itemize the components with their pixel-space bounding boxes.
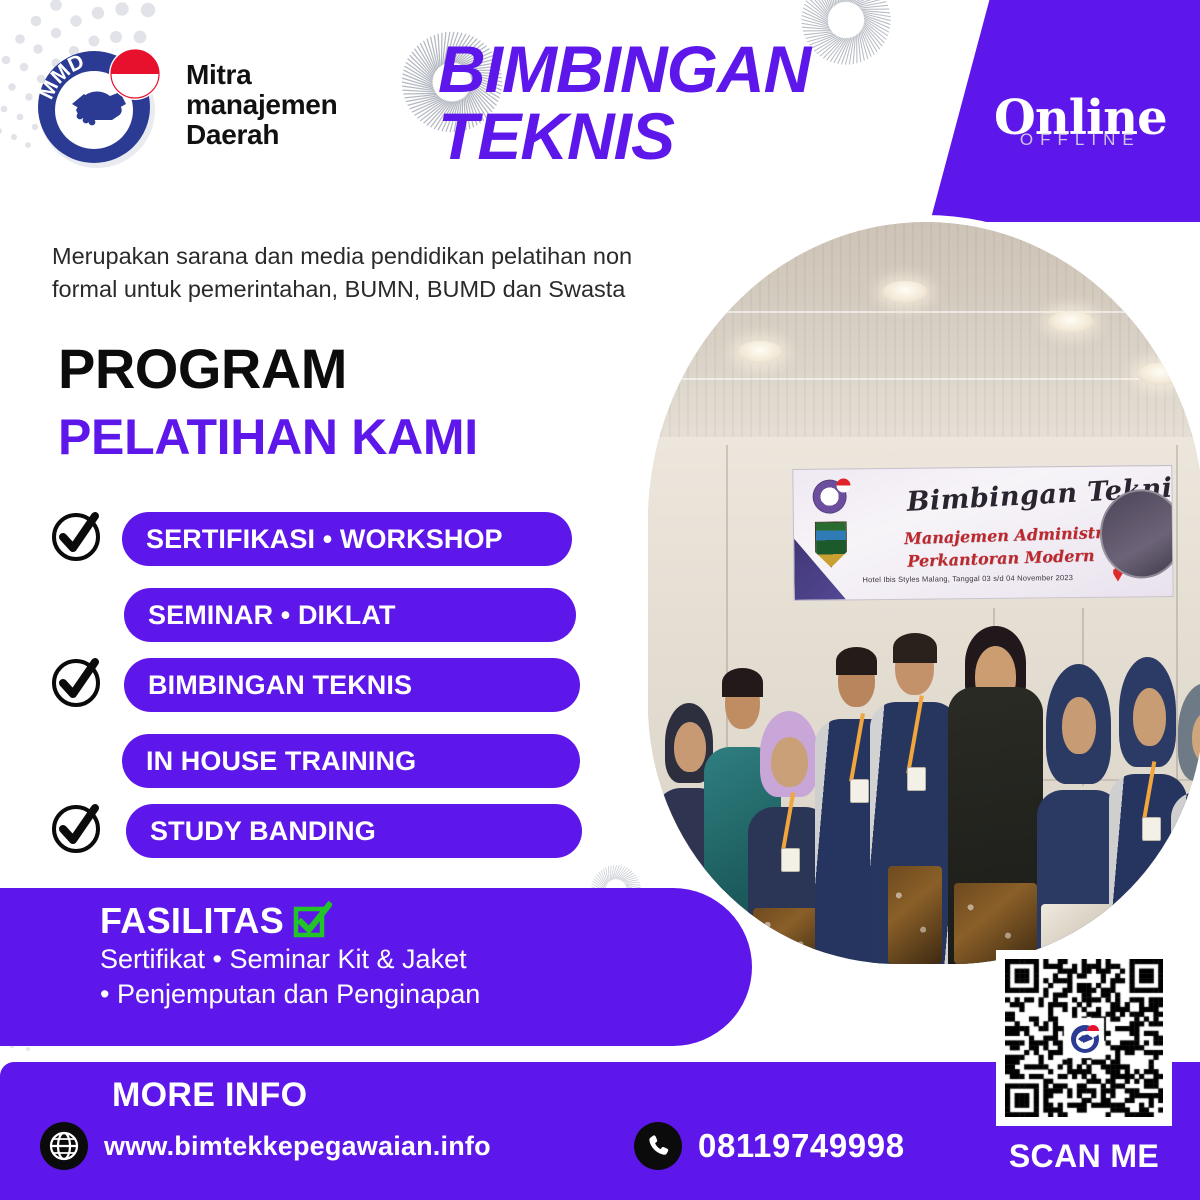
program-pill[interactable]: STUDY BANDING [126, 804, 582, 858]
program-heading-line-1: PROGRAM [58, 336, 347, 401]
photo-event-banner: Bimbingan Teknis Manajemen Administrasi … [792, 465, 1173, 601]
event-photo-scene: Bimbingan Teknis Manajemen Administrasi … [648, 222, 1200, 964]
program-pill[interactable]: BIMBINGAN TEKNIS [124, 658, 580, 712]
check-circle-icon [48, 800, 104, 856]
radial-rays-decoration-b [798, 0, 894, 68]
program-pill[interactable]: SEMINAR • DIKLAT [124, 588, 576, 642]
delivery-mode-label: Online OFFLINE [994, 96, 1167, 150]
photo-banner-subtitle-1: Manajemen Administrasi [903, 522, 1128, 548]
poster-root: Bimbingan Teknis Manajemen Administrasi … [0, 0, 1200, 1200]
website-row[interactable]: www.bimtekkepegawaian.info [40, 1122, 491, 1170]
headline-line-2: TEKNIS [438, 103, 810, 170]
event-photo: Bimbingan Teknis Manajemen Administrasi … [648, 222, 1200, 964]
green-checkbox-icon [292, 901, 332, 941]
program-heading-line-2: PELATIHAN KAMI [58, 408, 478, 466]
headline-line-1: BIMBINGAN [438, 32, 810, 106]
facilities-line-2: • Penjemputan dan Penginapan [100, 977, 752, 1012]
check-circle-icon [48, 508, 104, 564]
photo-banner-venue: Hotel Ibis Styles Malang, Tanggal 03 s/d… [862, 573, 1073, 584]
program-pill-label: SERTIFIKASI • WORKSHOP [146, 524, 503, 555]
program-pill-label: BIMBINGAN TEKNIS [148, 670, 412, 701]
phone-number[interactable]: 08119749998 [698, 1127, 905, 1165]
facilities-line-1: Sertifikat • Seminar Kit & Jaket [100, 942, 752, 977]
brand-name-line-3: Daerah [186, 120, 337, 150]
facilities-title: FASILITAS [100, 900, 284, 942]
globe-icon [40, 1122, 88, 1170]
brand-name-line-2: manajemen [186, 90, 337, 120]
brand-logo-block: MMD Mitra manajemen Daerah [22, 30, 337, 180]
qr-panel[interactable]: SCAN ME [996, 950, 1200, 1200]
program-pill-label: STUDY BANDING [150, 816, 376, 847]
facilities-panel: FASILITAS Sertifikat • Seminar Kit & Jak… [0, 888, 752, 1046]
brand-name-line-1: Mitra [186, 60, 337, 90]
facilities-title-row: FASILITAS [100, 900, 752, 942]
qr-center-logo-icon [1068, 1022, 1102, 1056]
tagline-line-2: formal untuk pemerintahan, BUMN, BUMD da… [52, 273, 752, 306]
main-headline: BIMBINGAN TEKNIS [438, 36, 810, 171]
program-pill-label: SEMINAR • DIKLAT [148, 600, 396, 631]
tagline: Merupakan sarana dan media pendidikan pe… [52, 240, 752, 306]
scan-me-caption: SCAN ME [996, 1138, 1172, 1175]
program-pill[interactable]: SERTIFIKASI • WORKSHOP [122, 512, 572, 566]
check-circle-icon [48, 654, 104, 710]
tagline-line-1: Merupakan sarana dan media pendidikan pe… [52, 240, 752, 273]
website-url[interactable]: www.bimtekkepegawaian.info [104, 1131, 491, 1162]
program-pill[interactable]: IN HOUSE TRAINING [122, 734, 580, 788]
program-pill-label: IN HOUSE TRAINING [146, 746, 416, 777]
mmd-logo-icon: MMD [22, 30, 172, 180]
brand-name: Mitra manajemen Daerah [186, 60, 337, 149]
phone-row[interactable]: 08119749998 [634, 1122, 905, 1170]
phone-icon [634, 1122, 682, 1170]
more-info-heading: MORE INFO [112, 1076, 307, 1115]
photo-banner-subtitle-2: Perkantoran Modern [907, 545, 1095, 570]
